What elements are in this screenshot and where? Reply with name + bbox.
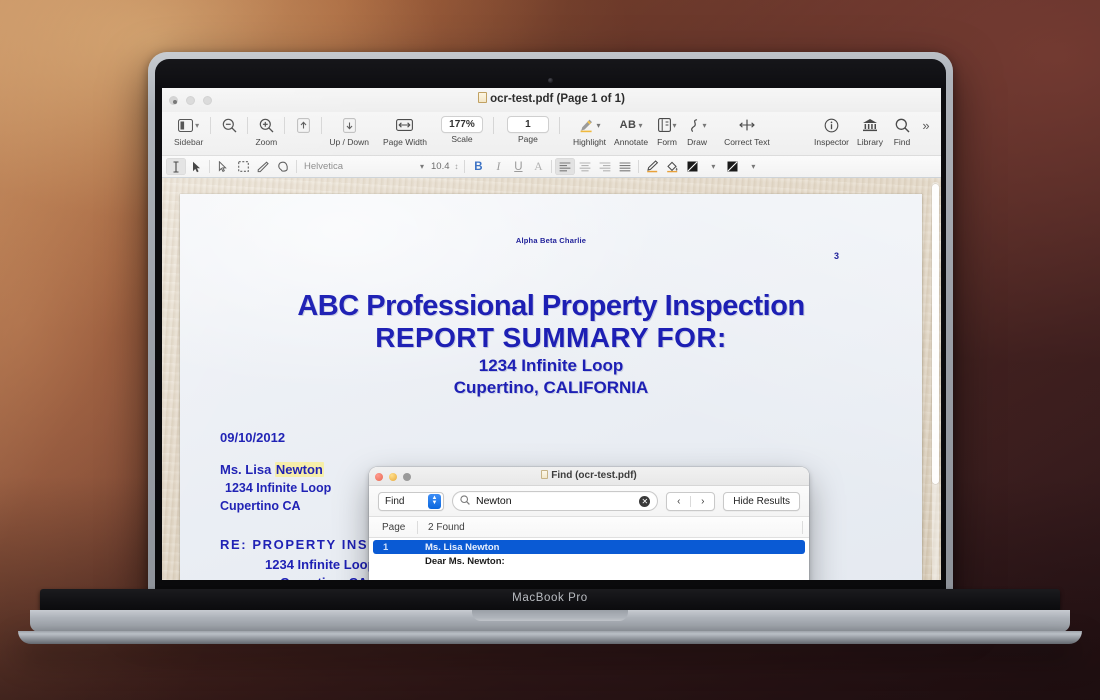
- window-title: ocr-test.pdf (Page 1 of 1): [162, 92, 941, 105]
- align-right-button[interactable]: [595, 158, 615, 175]
- font-size-value: 10.4: [431, 161, 450, 172]
- align-justify-button[interactable]: [615, 158, 635, 175]
- search-match-highlight: Newton: [275, 462, 324, 477]
- marquee-select-tool[interactable]: [233, 158, 253, 175]
- stroke-chevron-button[interactable]: ▾: [702, 158, 722, 175]
- fill-swatch-button[interactable]: [722, 158, 742, 175]
- search-icon: [460, 495, 470, 508]
- find-results-list[interactable]: 1 Ms. Lisa Newton Dear Ms. Newton:: [369, 538, 809, 580]
- format-divider: [296, 160, 297, 173]
- italic-label: I: [496, 161, 500, 173]
- underline-label: U: [514, 161, 522, 173]
- macbook-pro-device: ocr-test.pdf (Page 1 of 1) ▾ Sidebar: [0, 0, 1100, 700]
- toolbar-inspector-label: Inspector: [814, 137, 849, 147]
- draw-icon: ▾: [688, 114, 707, 136]
- scale-value[interactable]: 177%: [441, 116, 483, 133]
- format-divider: [551, 160, 552, 173]
- find-mode-label: Find: [385, 496, 404, 507]
- zoom-in-icon: [259, 114, 274, 136]
- document-addressee: Ms. Lisa Newton: [220, 462, 324, 477]
- correct-text-icon: [738, 114, 756, 136]
- find-results-header: Page 2 Found: [369, 517, 809, 538]
- toolbar-zoom-in-button[interactable]: Zoom: [251, 114, 281, 147]
- inspector-icon: [824, 114, 839, 136]
- find-panel-title: Find (ocr-test.pdf): [369, 470, 809, 481]
- document-subtitle-line2: Cupertino, CALIFORNIA: [454, 378, 649, 398]
- laptop-lid-notch: [472, 610, 628, 621]
- document-date: 09/10/2012: [220, 430, 285, 445]
- list-item[interactable]: 1 Ms. Lisa Newton: [373, 540, 805, 554]
- column-header-page: Page: [369, 522, 417, 533]
- toolbar-page-down-button[interactable]: Up / Down: [325, 114, 373, 147]
- laptop-screen: ocr-test.pdf (Page 1 of 1) ▾ Sidebar: [162, 88, 941, 580]
- font-family-value: Helvetica: [304, 161, 343, 172]
- pdf-file-icon: [478, 92, 487, 103]
- clear-search-icon[interactable]: ✕: [639, 496, 650, 507]
- chevron-down-icon: ▾: [711, 162, 715, 171]
- main-toolbar[interactable]: ▾ Sidebar Zoom: [162, 112, 941, 156]
- toolbar-correct-text-label: Correct Text: [724, 137, 770, 147]
- toolbar-divider: [210, 117, 211, 134]
- toolbar-page-field[interactable]: 1 Page: [503, 114, 553, 144]
- find-panel-window[interactable]: Find (ocr-test.pdf) Find ▲▼ New: [369, 467, 809, 580]
- arrow-select-tool[interactable]: [186, 158, 206, 175]
- chevron-down-icon: ▾: [673, 121, 677, 130]
- zoom-out-icon: [222, 114, 237, 136]
- find-panel-titlebar[interactable]: Find (ocr-test.pdf): [369, 467, 809, 486]
- document-subtitle-line1: 1234 Infinite Loop: [479, 356, 624, 376]
- format-divider: [209, 160, 210, 173]
- search-icon: [895, 114, 910, 136]
- document-re-line1: 1234 Infinite Loop: [265, 557, 376, 572]
- italic-button[interactable]: I: [488, 158, 508, 175]
- annotate-glyph: AB: [620, 119, 637, 131]
- hide-results-button[interactable]: Hide Results: [723, 492, 800, 511]
- toolbar-correct-text-button[interactable]: Correct Text: [720, 114, 774, 147]
- result-page-number: 1: [373, 542, 417, 553]
- toolbar-divider: [559, 117, 560, 134]
- toolbar-annotate-label: Annotate: [614, 137, 648, 147]
- sidebar-icon: ▾: [178, 114, 199, 136]
- toolbar-page-width-button[interactable]: Page Width: [379, 114, 431, 147]
- page-value[interactable]: 1: [507, 116, 549, 133]
- toolbar-highlight-button[interactable]: ▾ Highlight: [569, 114, 610, 147]
- document-header: Alpha Beta Charlie: [516, 236, 586, 245]
- column-divider: [802, 521, 803, 534]
- toolbar-scale-field[interactable]: 177% Scale: [437, 114, 487, 144]
- form-icon: ▾: [658, 114, 677, 136]
- stepper-arrows-icon: ↕: [452, 162, 458, 171]
- toolbar-annotate-button[interactable]: AB ▾ Annotate: [610, 114, 652, 147]
- find-navigation-group[interactable]: ‹ ›: [666, 492, 715, 511]
- chevron-down-icon: ▾: [195, 121, 199, 130]
- text-cursor-tool[interactable]: [166, 158, 186, 175]
- document-page-number: 3: [834, 251, 839, 261]
- underline-button[interactable]: U: [508, 158, 528, 175]
- toolbar-find-label: Find: [894, 137, 911, 147]
- result-text: Dear Ms. Newton:: [417, 556, 505, 567]
- webcam-icon: [548, 78, 553, 83]
- pen-color-button[interactable]: [642, 158, 662, 175]
- toolbar-page-width-label: Page Width: [383, 137, 427, 147]
- toolbar-up-down-label: Up / Down: [329, 137, 369, 147]
- column-header-found-count: 2 Found: [418, 522, 802, 533]
- document-address-line1: 1234 Infinite Loop: [225, 481, 331, 495]
- fill-chevron-button[interactable]: ▾: [742, 158, 762, 175]
- addressee-name-prefix: Ms. Lisa: [220, 462, 275, 477]
- chevron-down-icon: ▾: [751, 162, 755, 171]
- laptop-foot: [18, 631, 1082, 644]
- fill-color-button[interactable]: [662, 158, 682, 175]
- chevron-down-icon: ▾: [703, 121, 707, 130]
- pdf-file-icon: [541, 470, 548, 479]
- chevron-down-icon: ▾: [638, 121, 642, 130]
- stroke-swatch-button[interactable]: [682, 158, 702, 175]
- bold-button[interactable]: B: [468, 158, 488, 175]
- align-left-button[interactable]: [555, 158, 575, 175]
- find-next-button[interactable]: ›: [691, 496, 714, 507]
- document-title-line2: REPORT SUMMARY FOR:: [375, 322, 726, 354]
- highlight-icon: ▾: [578, 114, 600, 136]
- toolbar-page-label: Page: [518, 134, 538, 144]
- library-icon: [862, 114, 878, 136]
- toolbar-zoom-out-button[interactable]: [214, 114, 244, 137]
- find-mode-select[interactable]: Find ▲▼: [378, 492, 444, 511]
- format-divider: [638, 160, 639, 173]
- toolbar-form-label: Form: [657, 137, 677, 147]
- toolbar-highlight-label: Highlight: [573, 137, 606, 147]
- text-style-button[interactable]: A: [528, 158, 548, 175]
- page-down-icon: [343, 114, 356, 136]
- format-divider: [464, 160, 465, 173]
- format-toolbar[interactable]: Helvetica ▾ 10.4 ↕ B I U A: [162, 156, 941, 178]
- toolbar-draw-label: Draw: [687, 137, 707, 147]
- page-width-icon: [396, 114, 413, 136]
- toolbar-find-button[interactable]: Find: [887, 114, 917, 147]
- document-canvas[interactable]: Alpha Beta Charlie 3 ABC Professional Pr…: [162, 178, 941, 580]
- text-style-label: A: [534, 161, 542, 173]
- lasso-tool[interactable]: [213, 158, 233, 175]
- chevron-double-right-icon: »: [922, 114, 929, 136]
- chevron-down-icon: ▾: [420, 162, 424, 171]
- list-item[interactable]: Dear Ms. Newton:: [373, 554, 805, 568]
- toolbar-sidebar-button[interactable]: ▾ Sidebar: [170, 114, 207, 147]
- bold-label: B: [474, 161, 482, 173]
- toolbar-zoom-label: Zoom: [255, 137, 277, 147]
- toolbar-sidebar-label: Sidebar: [174, 137, 203, 147]
- toolbar-divider: [493, 117, 494, 134]
- align-center-button[interactable]: [575, 158, 595, 175]
- document-address-line2: Cupertino CA: [220, 499, 301, 513]
- window-title-text: ocr-test.pdf (Page 1 of 1): [490, 93, 625, 105]
- chevron-updown-icon: ▲▼: [428, 494, 441, 509]
- toolbar-divider: [247, 117, 248, 134]
- find-previous-button[interactable]: ‹: [667, 496, 690, 507]
- find-query-value[interactable]: Newton: [476, 495, 633, 507]
- toolbar-page-up-button[interactable]: [288, 114, 318, 137]
- toolbar-divider: [321, 117, 322, 134]
- annotate-icon: AB ▾: [620, 114, 643, 136]
- toolbar-divider: [284, 117, 285, 134]
- window-titlebar[interactable]: ocr-test.pdf (Page 1 of 1): [162, 88, 941, 112]
- document-re-line2: Cupertino, CA: [280, 575, 367, 580]
- vertical-scrollbar-thumb[interactable]: [932, 184, 939, 484]
- toolbar-library-button[interactable]: Library: [853, 114, 887, 147]
- find-search-field[interactable]: Newton ✕: [452, 491, 658, 511]
- result-text: Ms. Lisa Newton: [417, 542, 499, 553]
- find-panel-title-text: Find (ocr-test.pdf): [551, 470, 637, 481]
- find-toolbar[interactable]: Find ▲▼ Newton ✕ ‹: [369, 486, 809, 517]
- toolbar-overflow-button[interactable]: »: [917, 114, 935, 136]
- laptop-deck: MacBook Pro: [40, 589, 1060, 611]
- toolbar-scale-label: Scale: [451, 134, 472, 144]
- eraser-tool[interactable]: [253, 158, 273, 175]
- toolbar-draw-button[interactable]: ▾ Draw: [682, 114, 712, 147]
- toolbar-form-button[interactable]: ▾ Form: [652, 114, 682, 147]
- device-label: MacBook Pro: [40, 592, 1060, 604]
- font-family-select[interactable]: Helvetica ▾: [300, 161, 428, 172]
- document-title-line1: ABC Professional Property Inspection: [297, 290, 804, 323]
- toolbar-library-label: Library: [857, 137, 883, 147]
- page-up-icon: [297, 114, 310, 136]
- toolbar-inspector-button[interactable]: Inspector: [810, 114, 853, 147]
- chevron-down-icon: ▾: [596, 121, 600, 130]
- stamp-tool[interactable]: [273, 158, 293, 175]
- font-size-stepper[interactable]: 10.4 ↕: [428, 161, 461, 172]
